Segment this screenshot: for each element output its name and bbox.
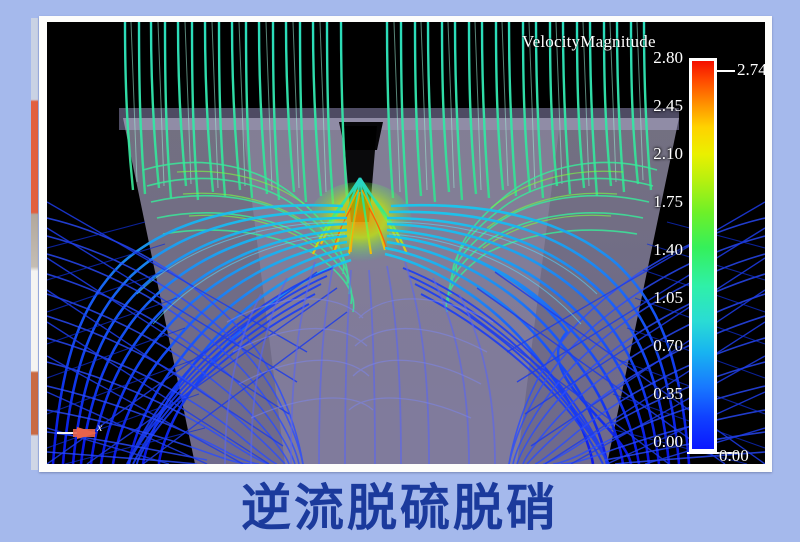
figure-caption: 逆流脱硫脱硝 bbox=[0, 474, 800, 542]
application-window: VelocityMagnitude 2.80 2.45 2.10 1.75 1.… bbox=[0, 0, 800, 542]
cfd-streamline-scene bbox=[47, 22, 765, 464]
left-scroll-strip[interactable] bbox=[31, 18, 38, 470]
render-view[interactable]: VelocityMagnitude 2.80 2.45 2.10 1.75 1.… bbox=[47, 22, 765, 464]
axis-arrow-icon bbox=[55, 420, 113, 446]
orientation-axes-widget[interactable]: x bbox=[55, 420, 113, 446]
axis-x-label: x bbox=[97, 420, 102, 435]
